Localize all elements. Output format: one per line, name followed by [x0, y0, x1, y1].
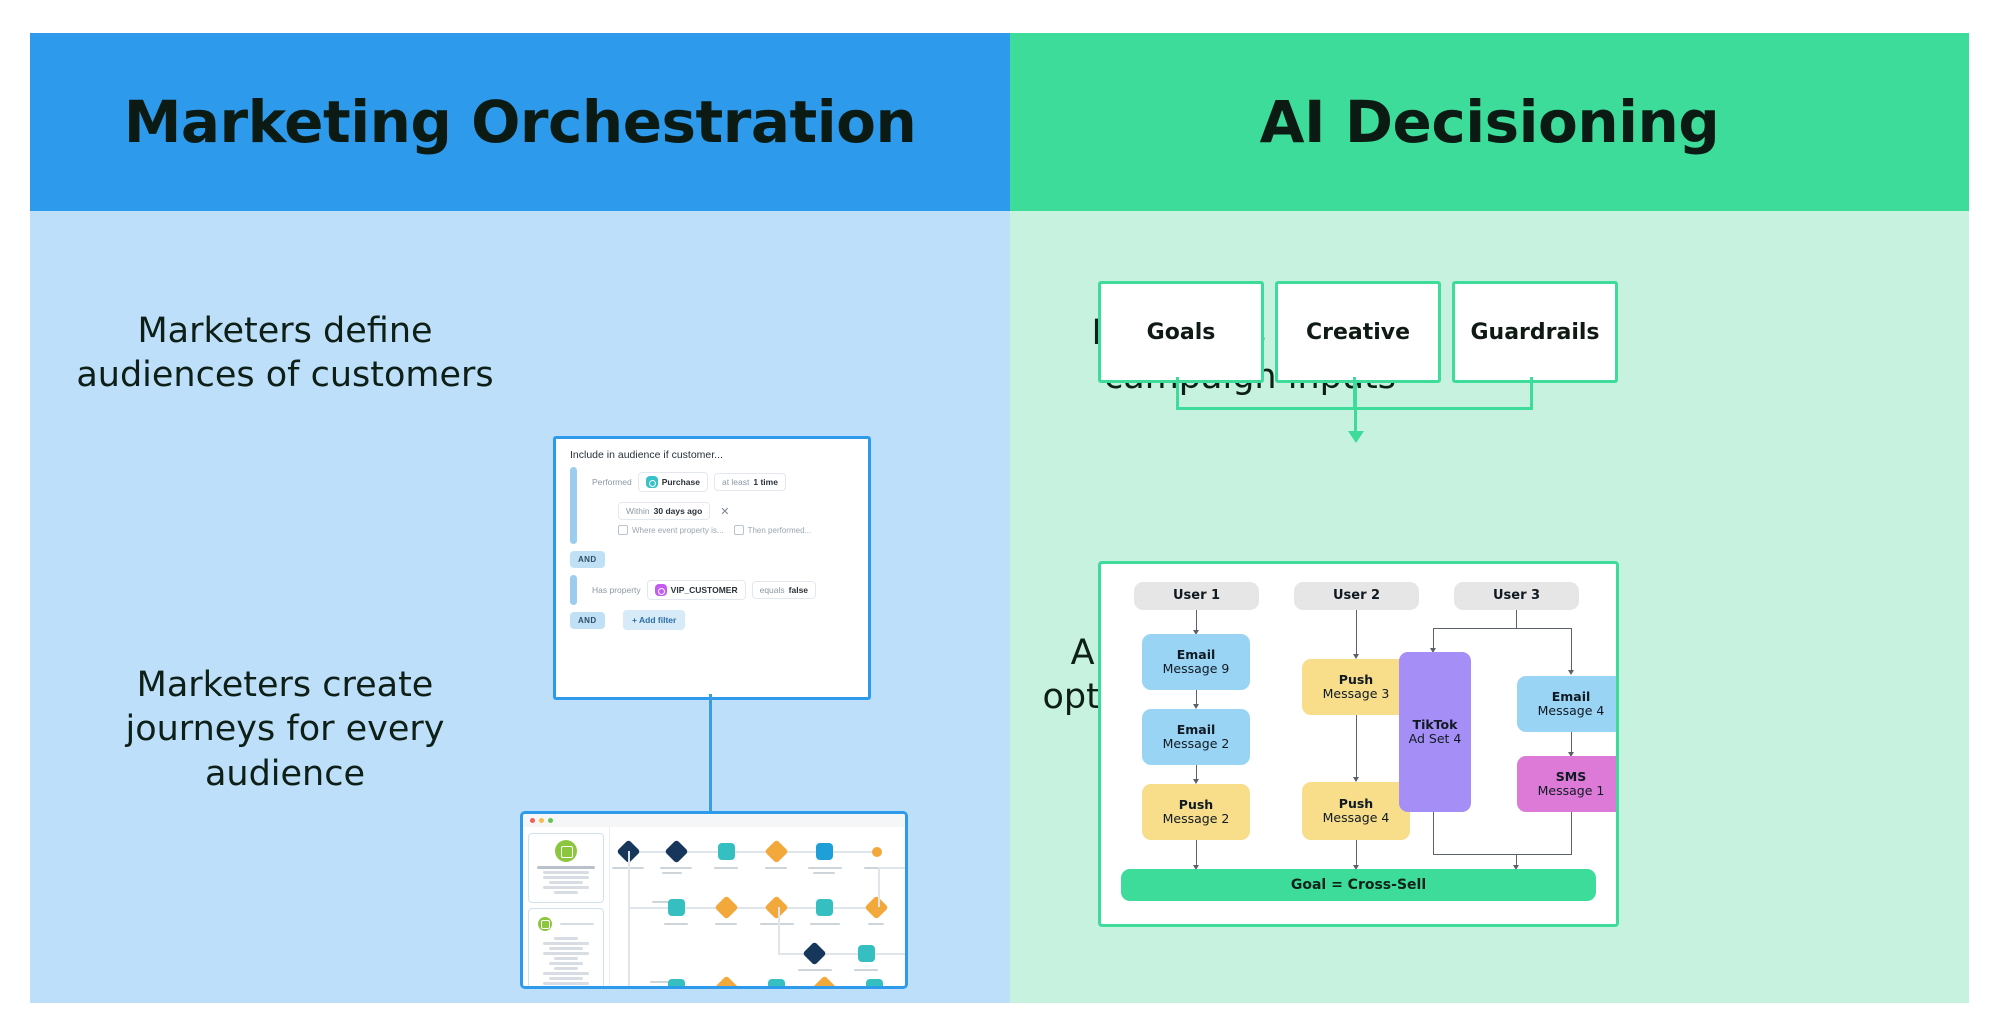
panel-line: [554, 957, 578, 960]
frequency-value: 1 time: [753, 477, 778, 487]
right-column-header: AI Decisioning: [1010, 33, 1969, 211]
user3-sms-channel: SMS: [1556, 770, 1586, 784]
window-minimize-icon[interactable]: [539, 818, 544, 823]
panel-line: [549, 947, 583, 950]
rule-row-subactions: Where event property is... Then performe…: [592, 525, 856, 544]
journey-node-join[interactable]: [864, 895, 888, 919]
user3-step-sms[interactable]: SMS Message 1: [1517, 756, 1619, 812]
rule-prefix-label: Performed: [592, 477, 632, 487]
user2-step1-channel: Push: [1339, 673, 1373, 687]
input-box-goals[interactable]: Goals: [1098, 281, 1264, 383]
journey-flow-canvas[interactable]: [610, 827, 905, 986]
decisioning-card: User 1 Email Message 9 Email Message 2 P…: [1098, 561, 1619, 927]
input-box-guardrails[interactable]: Guardrails: [1452, 281, 1618, 383]
audience-rule-group-1: Performed Purchase at least 1 time: [570, 467, 856, 544]
schedule-title-placeholder: [560, 923, 594, 926]
journey-canvas-card: [520, 811, 908, 989]
journey-node-delay-2[interactable]: [714, 895, 738, 919]
user1-step2-channel: Email: [1177, 723, 1216, 737]
user3-email-message: Message 4: [1538, 704, 1605, 718]
property-chip-label: VIP_CUSTOMER: [671, 585, 738, 595]
user1-step-1-email[interactable]: Email Message 9: [1142, 634, 1250, 690]
window-close-icon[interactable]: [530, 818, 535, 823]
timeframe-value: 30 days ago: [654, 506, 703, 516]
journey-node-email-3[interactable]: [858, 945, 875, 962]
panel-line: [549, 977, 583, 980]
where-event-property-button[interactable]: Where event property is...: [618, 525, 724, 535]
panel-line: [554, 937, 578, 940]
property-icon: [655, 584, 667, 596]
add-filter-button[interactable]: + Add filter: [623, 610, 685, 630]
audience-builder-title: Include in audience if customer...: [556, 439, 868, 467]
rule-group-accent-bar: [570, 467, 577, 544]
user3-step-tiktok[interactable]: TikTok Ad Set 4: [1399, 652, 1471, 812]
property-prefix-label: Has property: [592, 585, 641, 595]
journey-node-wait[interactable]: [664, 839, 688, 863]
user1-step2-message: Message 2: [1163, 737, 1230, 751]
where-event-property-label: Where event property is...: [632, 526, 724, 535]
comparison-board: Marketing Orchestration Marketers define…: [0, 0, 1999, 1028]
panel-line: [543, 871, 589, 874]
user2-step-1-push[interactable]: Push Message 3: [1302, 659, 1410, 715]
user-node-2[interactable]: User 2: [1294, 582, 1419, 610]
panel-line: [543, 876, 589, 879]
user2-step1-message: Message 3: [1323, 687, 1390, 701]
comparator-value: false: [789, 585, 808, 595]
connector-guardrails: [1530, 377, 1533, 410]
rule-row-performed: Performed Purchase at least 1 time: [592, 467, 856, 497]
left-caption-1: Marketers define audiences of customers: [70, 309, 500, 398]
rule-row-has-property: Has property VIP_CUSTOMER equals false: [592, 575, 856, 605]
journey-node-delay-3[interactable]: [714, 975, 738, 989]
journey-node-push[interactable]: [816, 899, 833, 916]
user-node-3[interactable]: User 3: [1454, 582, 1579, 610]
ai-decisioning-column: AI Decisioning Marketers provide campaig…: [1010, 33, 1969, 1003]
connector-goals: [1176, 377, 1179, 410]
then-performed-label: Then performed...: [748, 526, 812, 535]
left-caption-2: Marketers create journeys for every audi…: [60, 663, 510, 796]
panel-line: [543, 952, 589, 955]
user-node-1[interactable]: User 1: [1134, 582, 1259, 610]
panel-title-placeholder: [537, 866, 595, 869]
panel-line: [543, 982, 589, 985]
journey-window-body: [523, 827, 905, 986]
plus-box-icon: [618, 525, 628, 535]
journey-node-join-2[interactable]: [904, 941, 908, 965]
user3-email-channel: Email: [1552, 690, 1591, 704]
frequency-chip[interactable]: at least 1 time: [714, 473, 786, 491]
flow-arrow-down-blue: [709, 694, 712, 812]
user1-step3-message: Message 2: [1163, 812, 1230, 826]
frequency-prefix: at least: [722, 477, 749, 487]
schedule-icon: [538, 917, 552, 931]
user3-step-email[interactable]: Email Message 4: [1517, 676, 1619, 732]
user3-tiktok-channel: TikTok: [1413, 718, 1458, 732]
user1-step-3-push[interactable]: Push Message 2: [1142, 784, 1250, 840]
user1-step3-channel: Push: [1179, 798, 1213, 812]
journey-node-email-2[interactable]: [668, 899, 685, 916]
rule-row-timeframe: Within 30 days ago ✕: [592, 497, 856, 525]
panel-line: [554, 967, 578, 970]
panel-line: [549, 881, 583, 884]
journey-node-activity[interactable]: [816, 843, 833, 860]
goal-bar: Goal = Cross-Sell: [1121, 869, 1596, 901]
window-maximize-icon[interactable]: [548, 818, 553, 823]
event-chip-label: Purchase: [662, 477, 700, 487]
journey-node-ad-audience[interactable]: [768, 979, 785, 989]
left-column-body: Marketers define audiences of customers …: [30, 211, 1010, 1003]
user1-step1-message: Message 9: [1163, 662, 1230, 676]
journey-sidebar: [523, 827, 610, 986]
panel-line: [543, 972, 589, 975]
audience-builder-card: Include in audience if customer... Perfo…: [553, 436, 871, 700]
input-box-creative[interactable]: Creative: [1275, 281, 1441, 383]
user2-step2-message: Message 4: [1323, 811, 1390, 825]
property-chip[interactable]: VIP_CUSTOMER: [647, 580, 746, 600]
journey-node-delay-4[interactable]: [812, 975, 836, 989]
timeframe-chip[interactable]: Within 30 days ago: [618, 502, 710, 520]
journey-window-titlebar: [523, 814, 905, 827]
page-title-right: AI Decisioning: [1260, 88, 1720, 156]
journey-node-email[interactable]: [718, 843, 735, 860]
panel-line: [554, 891, 578, 894]
user3-tiktok-adset: Ad Set 4: [1409, 732, 1462, 746]
then-performed-button[interactable]: Then performed...: [734, 525, 812, 535]
audience-rule-group-2: Has property VIP_CUSTOMER equals false: [570, 575, 856, 605]
data-extension-panel[interactable]: [528, 833, 604, 903]
data-extension-icon: [555, 840, 577, 862]
comparator-prefix: equals: [760, 585, 785, 595]
operator-and-1[interactable]: AND: [570, 551, 605, 568]
operator-and-2[interactable]: AND: [570, 612, 605, 629]
rule-group-accent-bar-2: [570, 575, 577, 605]
filter-icon: [734, 525, 744, 535]
timeframe-prefix: Within: [626, 506, 650, 516]
journey-node-tag[interactable]: [904, 839, 908, 863]
right-column-body: Marketers provide campaign inputs AI Age…: [1010, 211, 1969, 1003]
journey-node-delay[interactable]: [764, 839, 788, 863]
user-2-label: User 2: [1333, 589, 1380, 604]
user3-sms-message: Message 1: [1538, 784, 1605, 798]
journey-node-link[interactable]: [872, 847, 882, 857]
user1-step-2-email[interactable]: Email Message 2: [1142, 709, 1250, 765]
left-column-header: Marketing Orchestration: [30, 33, 1010, 211]
marketing-orchestration-column: Marketing Orchestration Marketers define…: [30, 33, 1010, 1003]
user2-step2-channel: Push: [1339, 797, 1373, 811]
user1-step1-channel: Email: [1177, 648, 1216, 662]
journey-node-decision[interactable]: [764, 895, 788, 919]
page-title-left: Marketing Orchestration: [124, 88, 917, 156]
panel-line: [543, 942, 589, 945]
event-chip[interactable]: Purchase: [638, 472, 708, 492]
event-icon: [646, 476, 658, 488]
user2-step-2-push[interactable]: Push Message 4: [1302, 782, 1410, 840]
panel-line: [549, 962, 583, 965]
journey-node-whatsapp[interactable]: [668, 979, 685, 989]
journey-node-wait-2[interactable]: [802, 941, 826, 965]
comparator-chip[interactable]: equals false: [752, 581, 816, 599]
panel-line: [543, 886, 589, 889]
user-3-label: User 3: [1493, 589, 1540, 604]
remove-timeframe-icon[interactable]: ✕: [720, 505, 729, 518]
journey-node-inapp[interactable]: [866, 979, 883, 989]
schedule-panel[interactable]: [528, 908, 604, 989]
user-1-label: User 1: [1173, 589, 1220, 604]
